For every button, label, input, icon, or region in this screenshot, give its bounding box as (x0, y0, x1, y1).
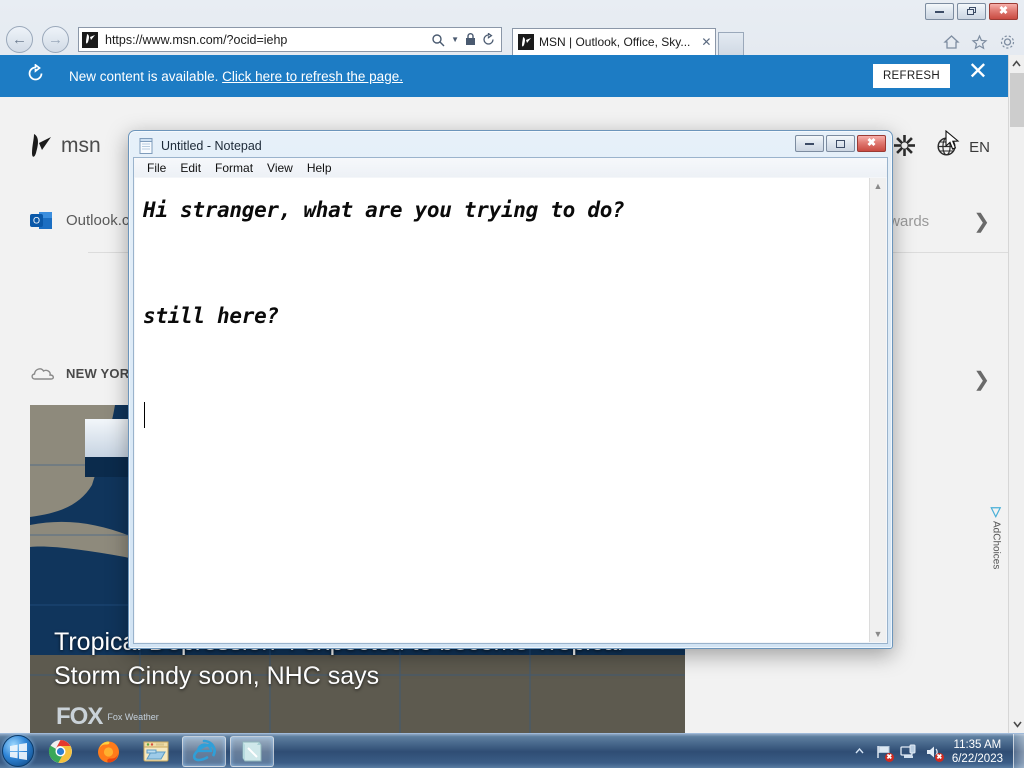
flag-icon[interactable]: ✖ (875, 743, 892, 760)
close-button[interactable]: ✖ (989, 3, 1018, 20)
scroll-down-icon[interactable]: ▼ (870, 626, 886, 642)
new-tab-button[interactable] (718, 32, 744, 55)
adchoices-label[interactable]: AdChoices (988, 507, 1004, 569)
browser-title-bar: ✖ (0, 0, 1024, 24)
outlook-icon: O (30, 209, 53, 232)
lock-icon[interactable] (462, 33, 479, 46)
msn-logo[interactable]: msn (30, 133, 101, 159)
refresh-icon[interactable] (479, 33, 501, 46)
msn-favicon-icon (518, 34, 534, 50)
minimize-icon (935, 10, 944, 13)
scroll-down-icon[interactable] (1009, 716, 1024, 733)
restore-button[interactable] (957, 3, 986, 20)
back-button[interactable]: ← (6, 26, 33, 53)
notepad-text-content[interactable]: Hi stranger, what are you trying to do? … (135, 178, 869, 398)
mouse-pointer-icon (945, 130, 960, 156)
restore-icon (967, 7, 977, 16)
menu-item-file[interactable]: File (140, 160, 173, 176)
notification-close-icon[interactable]: ✕ (968, 60, 988, 84)
chevron-right-icon[interactable]: ❯ (973, 367, 990, 392)
browser-command-bar (943, 34, 1016, 55)
address-bar[interactable]: https://www.msn.com/?ocid=iehp ▼ (78, 27, 502, 52)
tab-close-icon[interactable]: ✕ (701, 35, 711, 49)
scroll-up-icon[interactable]: ▲ (870, 178, 886, 194)
msn-logo-text: msn (61, 134, 101, 158)
svg-text:O: O (33, 216, 40, 226)
menu-item-edit[interactable]: Edit (173, 160, 208, 176)
notepad-window[interactable]: Untitled - Notepad ✖ File Edit Format Vi… (128, 130, 893, 649)
favorites-star-icon[interactable] (971, 34, 988, 55)
taskbar-item-chrome[interactable] (38, 736, 82, 767)
menu-item-help[interactable]: Help (300, 160, 339, 176)
desktop-screen: ✖ ← → https://www.msn.com/?ocid=iehp ▼ (0, 0, 1024, 768)
search-icon[interactable] (428, 33, 448, 47)
section-header-new-york[interactable]: NEW YORK (30, 365, 139, 381)
minimize-button[interactable] (925, 3, 954, 20)
fox-logo: FOX (56, 703, 102, 731)
notification-refresh-link[interactable]: Click here to refresh the page. (222, 69, 403, 84)
text-caret (144, 402, 145, 428)
page-scrollbar[interactable] (1008, 55, 1024, 733)
browser-navigation-bar: ← → https://www.msn.com/?ocid=iehp ▼ (0, 24, 1024, 55)
clock[interactable]: 11:35 AM 6/22/2023 (946, 738, 1013, 766)
tools-gear-icon[interactable] (999, 34, 1016, 55)
tab-msn[interactable]: MSN | Outlook, Office, Sky... ✕ (512, 28, 716, 55)
notification-message: New content is available. Click here to … (69, 69, 403, 84)
source-name: Fox Weather (107, 712, 158, 722)
adchoices-text: AdChoices (991, 521, 1002, 569)
error-badge: ✖ (885, 753, 894, 762)
language-indicator[interactable]: EN (969, 139, 990, 156)
notepad-minimize-button[interactable] (795, 135, 824, 152)
menu-item-format[interactable]: Format (208, 160, 260, 176)
minimize-icon (805, 142, 814, 145)
tab-strip: MSN | Outlook, Office, Sky... ✕ (512, 24, 744, 55)
tab-title: MSN | Outlook, Office, Sky... (539, 35, 690, 49)
refresh-button[interactable]: REFRESH (873, 64, 950, 88)
refresh-circular-icon (26, 64, 45, 89)
notepad-title: Untitled - Notepad (161, 139, 262, 153)
chevron-up-icon[interactable] (848, 746, 871, 757)
notification-text: New content is available. (69, 69, 218, 84)
windows-start-orb-icon[interactable] (2, 735, 34, 767)
clock-date: 6/22/2023 (952, 752, 1003, 766)
chevron-down-icon[interactable]: ▼ (448, 35, 462, 44)
notepad-body: File Edit Format View Help Hi stranger, … (133, 157, 888, 644)
volume-icon[interactable]: ✖ (925, 743, 942, 760)
notification-bar: New content is available. Click here to … (0, 55, 1008, 97)
taskbar-item-notepad[interactable] (230, 736, 274, 767)
chevron-right-icon[interactable]: ❯ (973, 209, 990, 234)
notepad-text-area[interactable]: Hi stranger, what are you trying to do? … (135, 178, 886, 642)
notepad-close-button[interactable]: ✖ (857, 135, 886, 152)
show-desktop-button[interactable] (1013, 734, 1024, 768)
taskbar: ✖ ✖ 11:35 AM 6/22/2023 (0, 733, 1024, 768)
menu-item-view[interactable]: View (260, 160, 300, 176)
notepad-maximize-button[interactable] (826, 135, 855, 152)
msn-butterfly-icon (30, 133, 52, 159)
close-icon: ✖ (999, 6, 1008, 17)
outlook-row[interactable]: O Outlook.co (30, 209, 138, 232)
adchoices-triangle-icon (991, 507, 1002, 519)
forward-button[interactable]: → (42, 26, 69, 53)
notepad-window-controls: ✖ (795, 135, 886, 152)
taskbar-item-file-explorer[interactable] (134, 736, 178, 767)
muted-badge: ✖ (935, 753, 944, 762)
clock-time: 11:35 AM (952, 738, 1003, 752)
notepad-title-bar[interactable]: Untitled - Notepad ✖ (133, 135, 888, 157)
maximize-icon (836, 140, 845, 148)
network-icon[interactable] (900, 743, 917, 760)
close-icon: ✖ (867, 138, 876, 149)
scroll-up-icon[interactable] (1009, 55, 1024, 72)
taskbar-item-firefox[interactable] (86, 736, 130, 767)
home-icon[interactable] (943, 34, 960, 55)
gear-icon[interactable] (894, 135, 915, 162)
cloud-icon (30, 365, 56, 381)
system-tray: ✖ ✖ 11:35 AM 6/22/2023 (848, 734, 1024, 768)
taskbar-item-internet-explorer[interactable] (182, 736, 226, 767)
msn-favicon-icon (82, 32, 98, 48)
browser-window-controls: ✖ (925, 3, 1018, 20)
notepad-document-icon (139, 138, 154, 154)
outlook-label: Outlook.co (66, 212, 138, 229)
address-bar-url[interactable]: https://www.msn.com/?ocid=iehp (105, 33, 428, 47)
notepad-scrollbar[interactable]: ▲ ▼ (869, 178, 886, 642)
hero-source: FOX Fox Weather (56, 703, 159, 731)
scrollbar-thumb[interactable] (1010, 73, 1024, 127)
notepad-menu-bar: File Edit Format View Help (134, 158, 887, 177)
